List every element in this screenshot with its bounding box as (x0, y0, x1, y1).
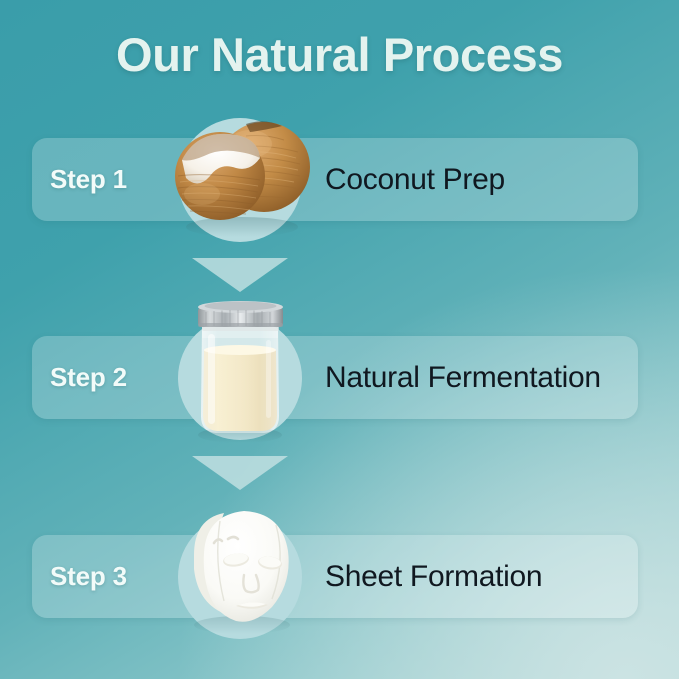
step-label-1: Step 1 (50, 138, 127, 221)
step-description-3: Sheet Formation (325, 535, 542, 618)
step-1-badge (178, 118, 302, 242)
arrow-step-2-to-3 (192, 456, 288, 490)
step-2-badge (178, 316, 302, 440)
page-title: Our Natural Process (0, 27, 679, 82)
step-description-1: Coconut Prep (325, 138, 505, 221)
arrow-step-1-to-2 (192, 258, 288, 292)
step-3-badge (178, 515, 302, 639)
step-label-2: Step 2 (50, 336, 127, 419)
infographic-canvas: Our Natural Process Step 1 (0, 0, 679, 679)
step-description-2: Natural Fermentation (325, 336, 601, 419)
step-label-3: Step 3 (50, 535, 127, 618)
